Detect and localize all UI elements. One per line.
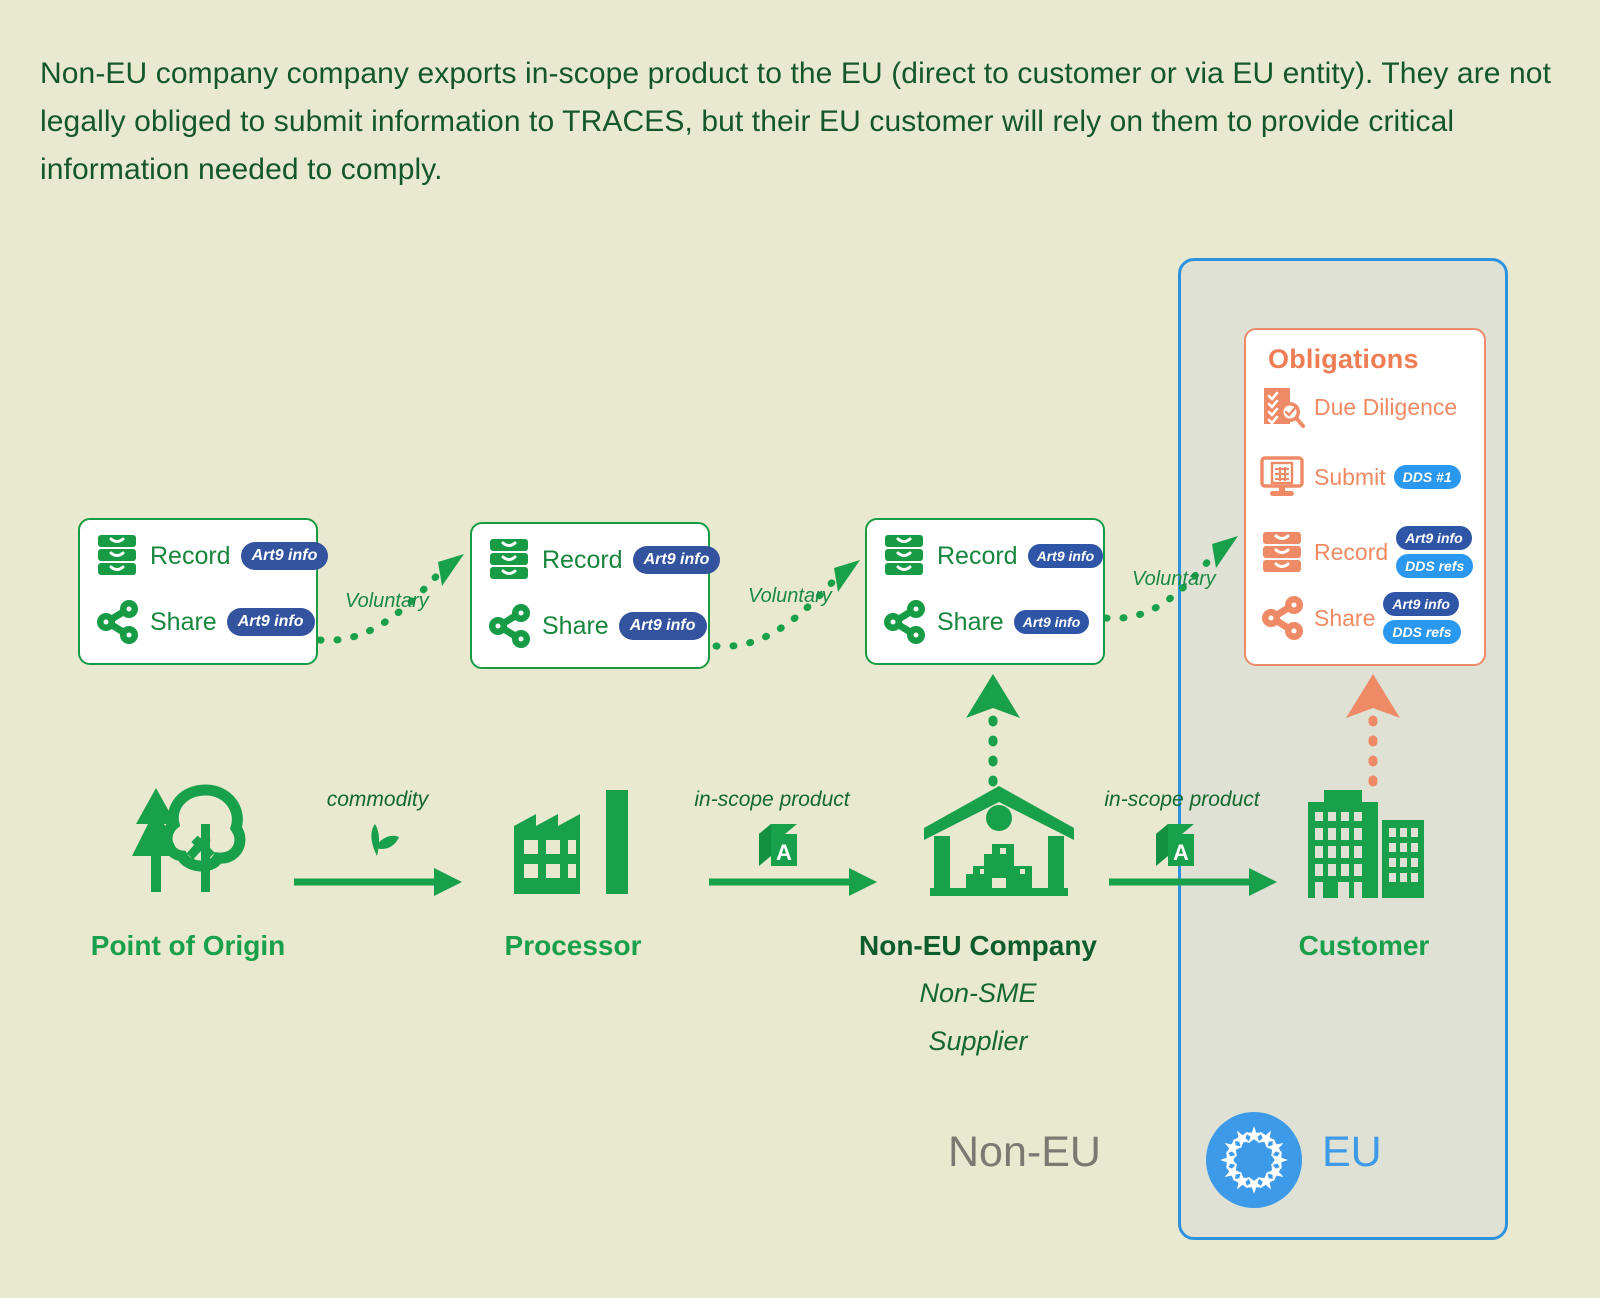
file-cabinet-icon	[1260, 531, 1304, 573]
voluntary-label-2: Voluntary	[748, 585, 832, 608]
leaf-icon	[355, 818, 401, 858]
pill-art9-info: Art9 info	[241, 542, 329, 570]
flow-label-commodity: commodity	[300, 788, 455, 812]
obligations-card: Obligations Due Diligence	[1244, 328, 1486, 666]
card-row-label: Share	[150, 608, 217, 637]
file-cabinet-icon	[883, 534, 925, 578]
obligation-row-submit: Submit DDS #1	[1260, 456, 1461, 498]
voluntary-label-1: Voluntary	[345, 590, 429, 613]
share-nodes-icon	[96, 600, 138, 644]
eu-flag-icon	[1204, 1110, 1304, 1210]
office-buildings-icon	[1304, 788, 1428, 900]
factory-icon	[508, 788, 636, 898]
warehouse-icon	[922, 782, 1077, 898]
share-nodes-icon	[1260, 596, 1304, 640]
obligation-row-share: Share Art9 info DDS refs	[1260, 592, 1461, 644]
card-row-share: Share Art9 info	[96, 600, 315, 644]
node-label-non-eu-company: Non-EU Company	[830, 930, 1126, 962]
voluntary-label-3: Voluntary	[1132, 568, 1216, 591]
card-row-label: Share	[937, 608, 1004, 637]
dotted-arrow-up-non-eu	[958, 666, 1028, 784]
flow-arrow-1	[290, 862, 465, 902]
node-label-customer: Customer	[1222, 930, 1506, 962]
card-row-label: Record	[150, 542, 231, 571]
file-cabinet-icon	[96, 534, 138, 578]
card-row-record: Record Art9 info	[883, 534, 1103, 578]
pill-art9-info: Art9 info	[1383, 592, 1459, 616]
diagram-canvas: Non-EU company company exports in-scope …	[0, 0, 1600, 1298]
pill-dds-number: DDS #1	[1394, 465, 1461, 489]
file-cabinet-icon	[488, 538, 530, 582]
pill-art9-info: Art9 info	[227, 608, 315, 636]
pill-dds-refs: DDS refs	[1396, 554, 1473, 578]
pill-art9-info: Art9 info	[1014, 610, 1090, 634]
card-row-share: Share Art9 info	[488, 604, 707, 648]
obligation-row-record: Record Art9 info DDS refs	[1260, 526, 1473, 578]
pill-art9-info: Art9 info	[1396, 526, 1472, 550]
card-row-record: Record Art9 info	[488, 538, 720, 582]
monitor-form-icon	[1260, 456, 1304, 498]
region-label-non-eu: Non-EU	[948, 1128, 1101, 1177]
obligation-row-due-diligence: Due Diligence	[1260, 386, 1457, 428]
pill-art9-info: Art9 info	[633, 546, 721, 574]
card-row-label: Share	[542, 612, 609, 641]
obligations-title: Obligations	[1268, 344, 1419, 375]
obligation-label: Record	[1314, 539, 1388, 566]
card-row-share: Share Art9 info	[883, 600, 1089, 644]
pill-art9-info: Art9 info	[1028, 544, 1104, 568]
card-row-record: Record Art9 info	[96, 534, 328, 578]
flow-arrow-2	[705, 862, 880, 902]
flow-label-in-scope-1: in-scope product	[688, 788, 856, 812]
node-sublabel-supplier: Supplier	[830, 1026, 1126, 1057]
record-share-card-origin: Record Art9 info Share Art9 info	[78, 518, 318, 665]
pill-art9-info: Art9 info	[619, 612, 707, 640]
record-share-card-non-eu-company: Record Art9 info Share Art9 info	[865, 518, 1105, 665]
dotted-arrow-up-customer	[1338, 666, 1408, 784]
card-row-label: Record	[542, 546, 623, 575]
checklist-magnifier-icon	[1260, 386, 1304, 428]
node-label-point-of-origin: Point of Origin	[38, 930, 338, 962]
share-nodes-icon	[488, 604, 530, 648]
intro-paragraph: Non-EU company company exports in-scope …	[40, 50, 1570, 194]
record-share-card-processor: Record Art9 info Share Art9 info	[470, 522, 710, 669]
obligation-label: Due Diligence	[1314, 394, 1457, 421]
obligation-label: Submit	[1314, 464, 1386, 491]
obligation-label: Share	[1314, 605, 1375, 632]
flow-arrow-3	[1105, 862, 1280, 902]
region-label-eu: EU	[1322, 1128, 1382, 1177]
node-label-processor: Processor	[432, 930, 714, 962]
flow-label-in-scope-2: in-scope product	[1098, 788, 1266, 812]
box-a-icon: A	[755, 822, 801, 868]
svg-text:A: A	[776, 840, 792, 865]
svg-text:A: A	[1173, 840, 1189, 865]
node-sublabel-non-sme: Non-SME	[830, 978, 1126, 1009]
box-a-icon: A	[1152, 822, 1198, 868]
forest-icon	[118, 782, 258, 900]
share-nodes-icon	[883, 600, 925, 644]
card-row-label: Record	[937, 542, 1018, 571]
pill-dds-refs: DDS refs	[1383, 620, 1460, 644]
